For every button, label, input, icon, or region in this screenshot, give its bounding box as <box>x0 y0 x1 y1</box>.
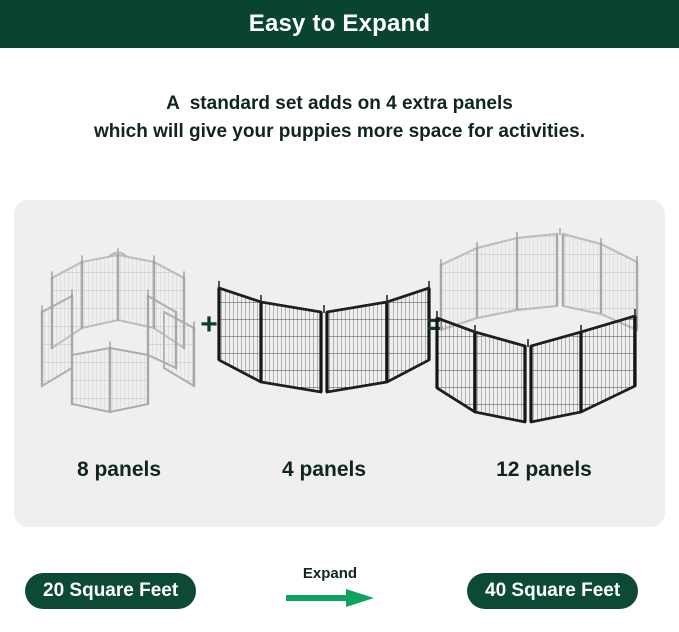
badge-area-before: 20 Square Feet <box>25 573 196 609</box>
dodecagon-pen-icon <box>429 200 659 450</box>
arrow-right-icon <box>284 587 376 609</box>
page-title: Easy to Expand <box>249 12 431 36</box>
badge-area-after: 40 Square Feet <box>467 573 638 609</box>
subtitle-line-1: A standard set adds on 4 extra panels <box>0 90 679 118</box>
pen-illustration-4-panels <box>209 200 439 450</box>
subtitle-block: A standard set adds on 4 extra panels wh… <box>0 90 679 145</box>
subtitle-line-2: which will give your puppies more space … <box>0 118 679 146</box>
expand-indicator: Expand <box>270 566 390 618</box>
header-band: Easy to Expand <box>0 0 679 48</box>
panel-count-label-8: 8 panels <box>24 458 214 482</box>
panel-count-label-4: 4 panels <box>209 458 439 482</box>
octagon-pen-icon <box>24 200 214 450</box>
footer-row: 20 Square Feet Expand 40 Square Feet <box>0 560 679 632</box>
expand-label: Expand <box>270 566 390 583</box>
pen-illustration-8-panels <box>24 200 214 450</box>
illustration-card: + <box>14 200 665 527</box>
illustration-stage: + <box>14 200 665 450</box>
open-fan-panels-icon <box>209 200 439 450</box>
panel-count-label-12: 12 panels <box>429 458 659 482</box>
pen-illustration-12-panels <box>429 200 659 450</box>
